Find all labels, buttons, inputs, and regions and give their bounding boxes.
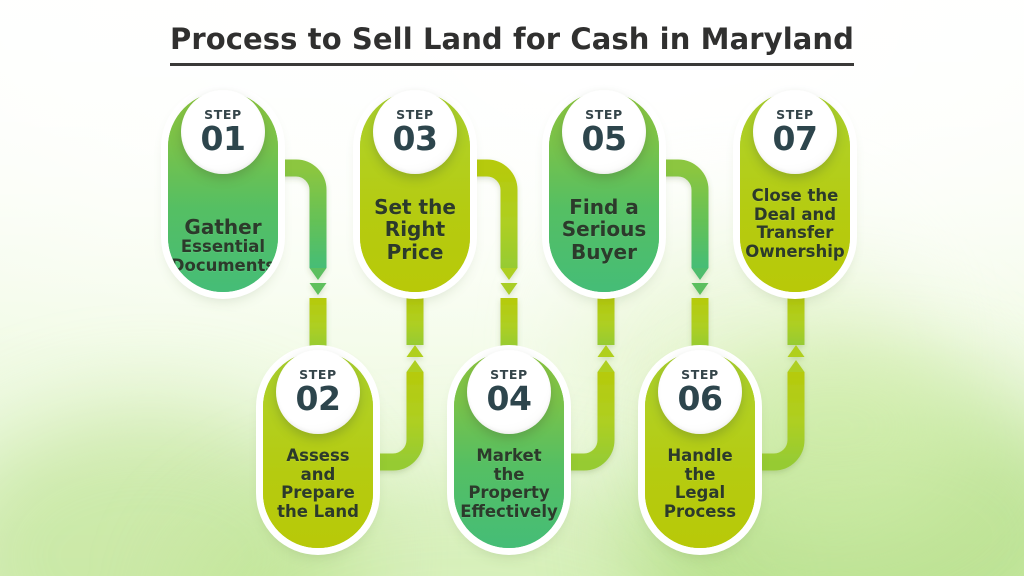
step-badge-04-number: 04	[487, 382, 532, 415]
step-badge-01-number: 01	[201, 122, 246, 155]
step-06-line-3: Process	[664, 503, 736, 522]
step-card-07-label: Close the Deal and Transfer Ownership	[745, 187, 844, 276]
step-card-04[interactable]: Market the Property Effectively STEP 04	[454, 352, 564, 548]
step-06-line-2: Legal	[664, 484, 736, 503]
infographic-canvas: Process to Sell Land for Cash in Marylan…	[0, 0, 1024, 576]
step-card-03[interactable]: Set the Right Price STEP 03	[360, 92, 470, 292]
step-06-line-0: Handle	[664, 447, 736, 466]
connector-02-03	[368, 286, 424, 462]
step-card-05[interactable]: Find a Serious Buyer STEP 05	[549, 92, 659, 292]
connector-01-02	[272, 168, 327, 360]
step-badge-01: STEP 01	[181, 90, 265, 174]
step-badge-05: STEP 05	[562, 90, 646, 174]
step-02-line-1: and	[277, 466, 359, 485]
step-badge-07: STEP 07	[753, 90, 837, 174]
step-07-line-0: Close the	[745, 187, 844, 206]
step-04-line-1: the	[460, 466, 558, 485]
step-card-01[interactable]: Gather Essential Documents STEP 01	[168, 92, 278, 292]
step-01-line-2: Documents	[171, 257, 275, 276]
step-05-line-0: Find a	[562, 196, 647, 219]
step-03-line-1: Right	[374, 218, 456, 241]
step-badge-02: STEP 02	[276, 350, 360, 434]
step-card-06-label: Handle the Legal Process	[664, 447, 736, 532]
step-05-line-1: Serious	[562, 218, 647, 241]
step-03-line-2: Price	[374, 241, 456, 264]
connector-05-06	[653, 168, 709, 360]
step-07-line-1: Deal and	[745, 206, 844, 225]
step-card-07[interactable]: Close the Deal and Transfer Ownership ST…	[740, 92, 850, 292]
step-06-line-1: the	[664, 466, 736, 485]
step-badge-06: STEP 06	[658, 350, 742, 434]
connector-03-04	[463, 168, 518, 360]
step-04-line-3: Effectively	[460, 503, 558, 522]
step-01-line-0: Gather	[171, 216, 275, 239]
step-05-line-2: Buyer	[562, 241, 647, 264]
step-card-02-label: Assess and Prepare the Land	[277, 447, 359, 532]
step-07-line-2: Transfer	[745, 224, 844, 243]
step-02-line-2: Prepare	[277, 484, 359, 503]
step-04-line-0: Market	[460, 447, 558, 466]
step-badge-02-number: 02	[296, 382, 341, 415]
step-04-line-2: Property	[460, 484, 558, 503]
connector-06-07	[750, 286, 805, 462]
step-card-04-label: Market the Property Effectively	[460, 447, 558, 532]
step-badge-04: STEP 04	[467, 350, 551, 434]
step-badge-03: STEP 03	[373, 90, 457, 174]
step-badge-05-number: 05	[582, 122, 627, 155]
step-02-line-0: Assess	[277, 447, 359, 466]
step-card-01-label: Gather Essential Documents	[171, 216, 275, 276]
step-badge-03-number: 03	[393, 122, 438, 155]
step-02-line-3: the Land	[277, 503, 359, 522]
step-01-line-1: Essential	[171, 238, 275, 257]
step-07-line-3: Ownership	[745, 243, 844, 262]
step-badge-06-number: 06	[678, 382, 723, 415]
connector-04-05	[559, 286, 615, 462]
step-card-06[interactable]: Handle the Legal Process STEP 06	[645, 352, 755, 548]
step-card-02[interactable]: Assess and Prepare the Land STEP 02	[263, 352, 373, 548]
step-card-03-label: Set the Right Price	[374, 196, 456, 276]
step-badge-07-number: 07	[773, 122, 818, 155]
step-card-05-label: Find a Serious Buyer	[562, 196, 647, 276]
step-03-line-0: Set the	[374, 196, 456, 219]
